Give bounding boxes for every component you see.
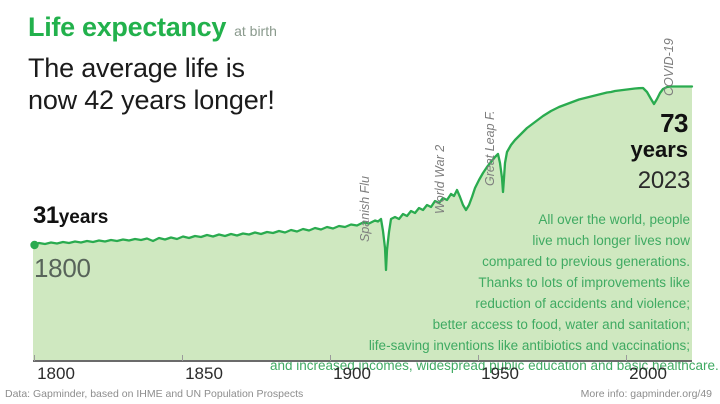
body-copy-line: reduction of accidents and violence; — [270, 294, 690, 315]
x-axis-line — [33, 360, 692, 362]
x-axis-tick-label: 1950 — [481, 364, 519, 384]
headline-text: The average life is now 42 years longer! — [28, 53, 278, 116]
more-info-link[interactable]: More info: gapminder.org/49 — [581, 388, 712, 400]
end-value-number: 73 — [630, 110, 688, 138]
source-caption: Data: Gapminder, based on IHME and UN Po… — [5, 388, 303, 400]
body-copy-line: better access to food, water and sanitat… — [270, 315, 690, 336]
page-title: Life expectancy — [28, 14, 226, 41]
title-row: Life expectancy at birth — [28, 14, 428, 41]
start-value-number: 31 — [33, 202, 59, 229]
end-value-unit: years — [630, 138, 688, 161]
x-axis-tick — [34, 355, 35, 361]
end-year-label: 2023 — [638, 167, 690, 195]
x-axis-tick — [478, 355, 479, 361]
body-copy-line: All over the world, people — [270, 210, 690, 231]
body-copy-line: Thanks to lots of improvements like — [270, 273, 690, 294]
x-axis-tick-label: 2000 — [629, 364, 667, 384]
start-point-marker — [30, 241, 38, 249]
chart-canvas: Life expectancy at birth The average lif… — [0, 0, 720, 404]
body-copy-line: compared to previous generations. — [270, 252, 690, 273]
event-label-world-war-2: World War 2 — [433, 145, 447, 214]
header-block: Life expectancy at birth The average lif… — [28, 14, 428, 116]
x-axis-tick — [182, 355, 183, 361]
body-copy-line: life-saving inventions like antibiotics … — [270, 336, 690, 357]
start-year-label: 1800 — [34, 253, 91, 284]
body-copy: All over the world, people live much lon… — [270, 210, 690, 377]
x-axis-tick-label: 1850 — [185, 364, 223, 384]
chart-subtitle: at birth — [234, 24, 277, 38]
x-axis-tick-label: 1800 — [37, 364, 75, 384]
start-value-label: 31years — [33, 202, 108, 230]
x-axis-tick — [330, 355, 331, 361]
event-label-great-leap-forward: Great Leap F. — [483, 110, 497, 186]
event-label-covid-19: COVID-19 — [662, 38, 676, 96]
x-axis-tick-label: 1900 — [333, 364, 371, 384]
start-value-unit: years — [59, 207, 109, 228]
x-axis-tick — [626, 355, 627, 361]
body-copy-line: live much longer lives now — [270, 231, 690, 252]
end-value-label: 73 years — [630, 110, 688, 161]
